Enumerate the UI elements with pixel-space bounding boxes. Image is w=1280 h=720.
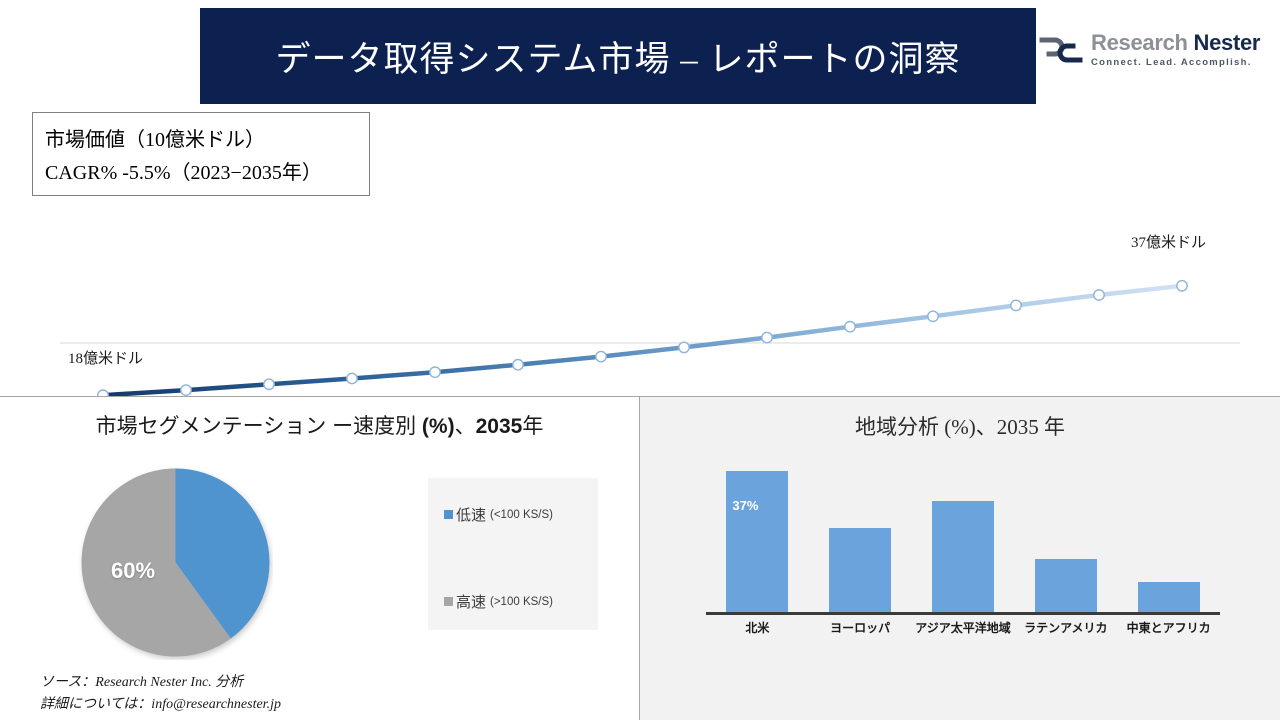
- pie-title-part-3: 、: [455, 415, 476, 438]
- page-header: データ取得システム市場 – レポートの洞察 Research Nester Co…: [0, 0, 1280, 104]
- trend-marker: [1177, 281, 1187, 291]
- market-value-line1: 市場価値（10億米ドル）: [45, 124, 369, 157]
- trend-marker: [264, 379, 274, 389]
- region-bar-slot: 37%: [707, 459, 807, 613]
- region-bar: [932, 501, 994, 613]
- pie-title-part-4: 2035: [476, 415, 523, 438]
- trend-marker: [1011, 300, 1021, 310]
- trend-marker: [928, 311, 938, 321]
- region-bar: [1035, 559, 1097, 613]
- trend-markers: [98, 281, 1187, 396]
- trend-marker: [430, 367, 440, 377]
- pie-slices: [82, 469, 270, 657]
- logo-wordmark: Research Nester Connect. Lead. Accomplis…: [1091, 32, 1260, 68]
- legend-swatch-low-speed: [444, 510, 453, 519]
- trend-marker: [596, 351, 606, 361]
- logo-tagline: Connect. Lead. Accomplish.: [1091, 58, 1260, 68]
- legend-label-low-speed: 低速: [456, 504, 486, 525]
- legend-item-low-speed: 低速 (<100 KS/S): [444, 504, 553, 525]
- region-bar-slot: [1119, 459, 1219, 613]
- market-value-line2: CAGR% -5.5%（2023−2035年）: [45, 157, 369, 190]
- source-note: ソース：Research Nester Inc. 分析 詳細については：info…: [40, 672, 281, 715]
- legend-sublabel-low-speed: (<100 KS/S): [490, 509, 553, 521]
- brand-logo: Research Nester Connect. Lead. Accomplis…: [1038, 24, 1260, 76]
- region-bar-value-label: 37%: [732, 498, 758, 513]
- pie-title-part-1: 市場セグメンテーション ー速度別: [96, 415, 422, 438]
- pie-chart-title: 市場セグメンテーション ー速度別 (%)、2035年: [0, 410, 639, 440]
- legend-item-high-speed: 高速 (>100 KS/S): [444, 591, 553, 612]
- trend-marker: [513, 360, 523, 370]
- region-tick-label: アジア太平洋地域: [913, 619, 1013, 636]
- region-bar-baseline: [706, 612, 1220, 615]
- region-bar-area: 37%: [706, 459, 1220, 613]
- region-chart-title: 地域分析 (%)、2035 年: [640, 411, 1280, 441]
- region-bar: [1138, 582, 1200, 613]
- pie-slice-value-label: 60%: [111, 558, 155, 584]
- research-nester-logo-icon: [1038, 33, 1084, 67]
- regional-analysis-panel: 地域分析 (%)、2035 年 37% 北米ヨーロッパアジア太平洋地域ラテンアメ…: [640, 397, 1280, 720]
- region-bar: [829, 528, 891, 613]
- logo-name-research: Research: [1091, 30, 1188, 55]
- legend-sublabel-high-speed: (>100 KS/S): [490, 596, 553, 608]
- legend-label-high-speed: 高速: [456, 591, 486, 612]
- region-tick-label: ヨーロッパ: [810, 619, 910, 636]
- market-value-callout-box: 市場価値（10億米ドル） CAGR% -5.5%（2023−2035年）: [32, 112, 370, 196]
- trend-marker: [181, 385, 191, 395]
- legend-swatch-high-speed: [444, 597, 453, 606]
- region-bar: [726, 471, 788, 613]
- trend-marker: [845, 322, 855, 332]
- region-bar-slot: [1016, 459, 1116, 613]
- trend-marker: [762, 332, 772, 342]
- market-value-line-chart-panel: 市場価値（10億米ドル） CAGR% -5.5%（2023−2035年） 18億…: [0, 104, 1280, 396]
- source-line-2: 詳細については：info@researchnester.jp: [40, 694, 281, 716]
- logo-name-nester: Nester: [1193, 30, 1260, 55]
- pie-legend: 低速 (<100 KS/S) 高速 (>100 KS/S): [428, 478, 598, 630]
- pie-title-part-5: 年: [522, 415, 543, 438]
- trend-marker: [679, 342, 689, 352]
- source-line-1: ソース：Research Nester Inc. 分析: [40, 672, 281, 694]
- logo-title: Research Nester: [1091, 32, 1260, 54]
- title-banner: データ取得システム市場 – レポートの洞察: [200, 8, 1036, 104]
- region-tick-label: ラテンアメリカ: [1016, 619, 1116, 636]
- pie-title-part-2: (%): [422, 415, 455, 438]
- pie-chart-svg: [78, 465, 273, 660]
- region-tick-label: 中東とアフリカ: [1119, 619, 1219, 636]
- region-tick-label: 北米: [707, 619, 807, 636]
- page-title: データ取得システム市場 – レポートの洞察: [276, 31, 961, 82]
- trend-marker: [347, 373, 357, 383]
- region-bar-slot: [913, 459, 1013, 613]
- region-axis: 北米ヨーロッパアジア太平洋地域ラテンアメリカ中東とアフリカ: [706, 619, 1220, 639]
- region-bar-slot: [810, 459, 910, 613]
- trend-marker: [1094, 290, 1104, 300]
